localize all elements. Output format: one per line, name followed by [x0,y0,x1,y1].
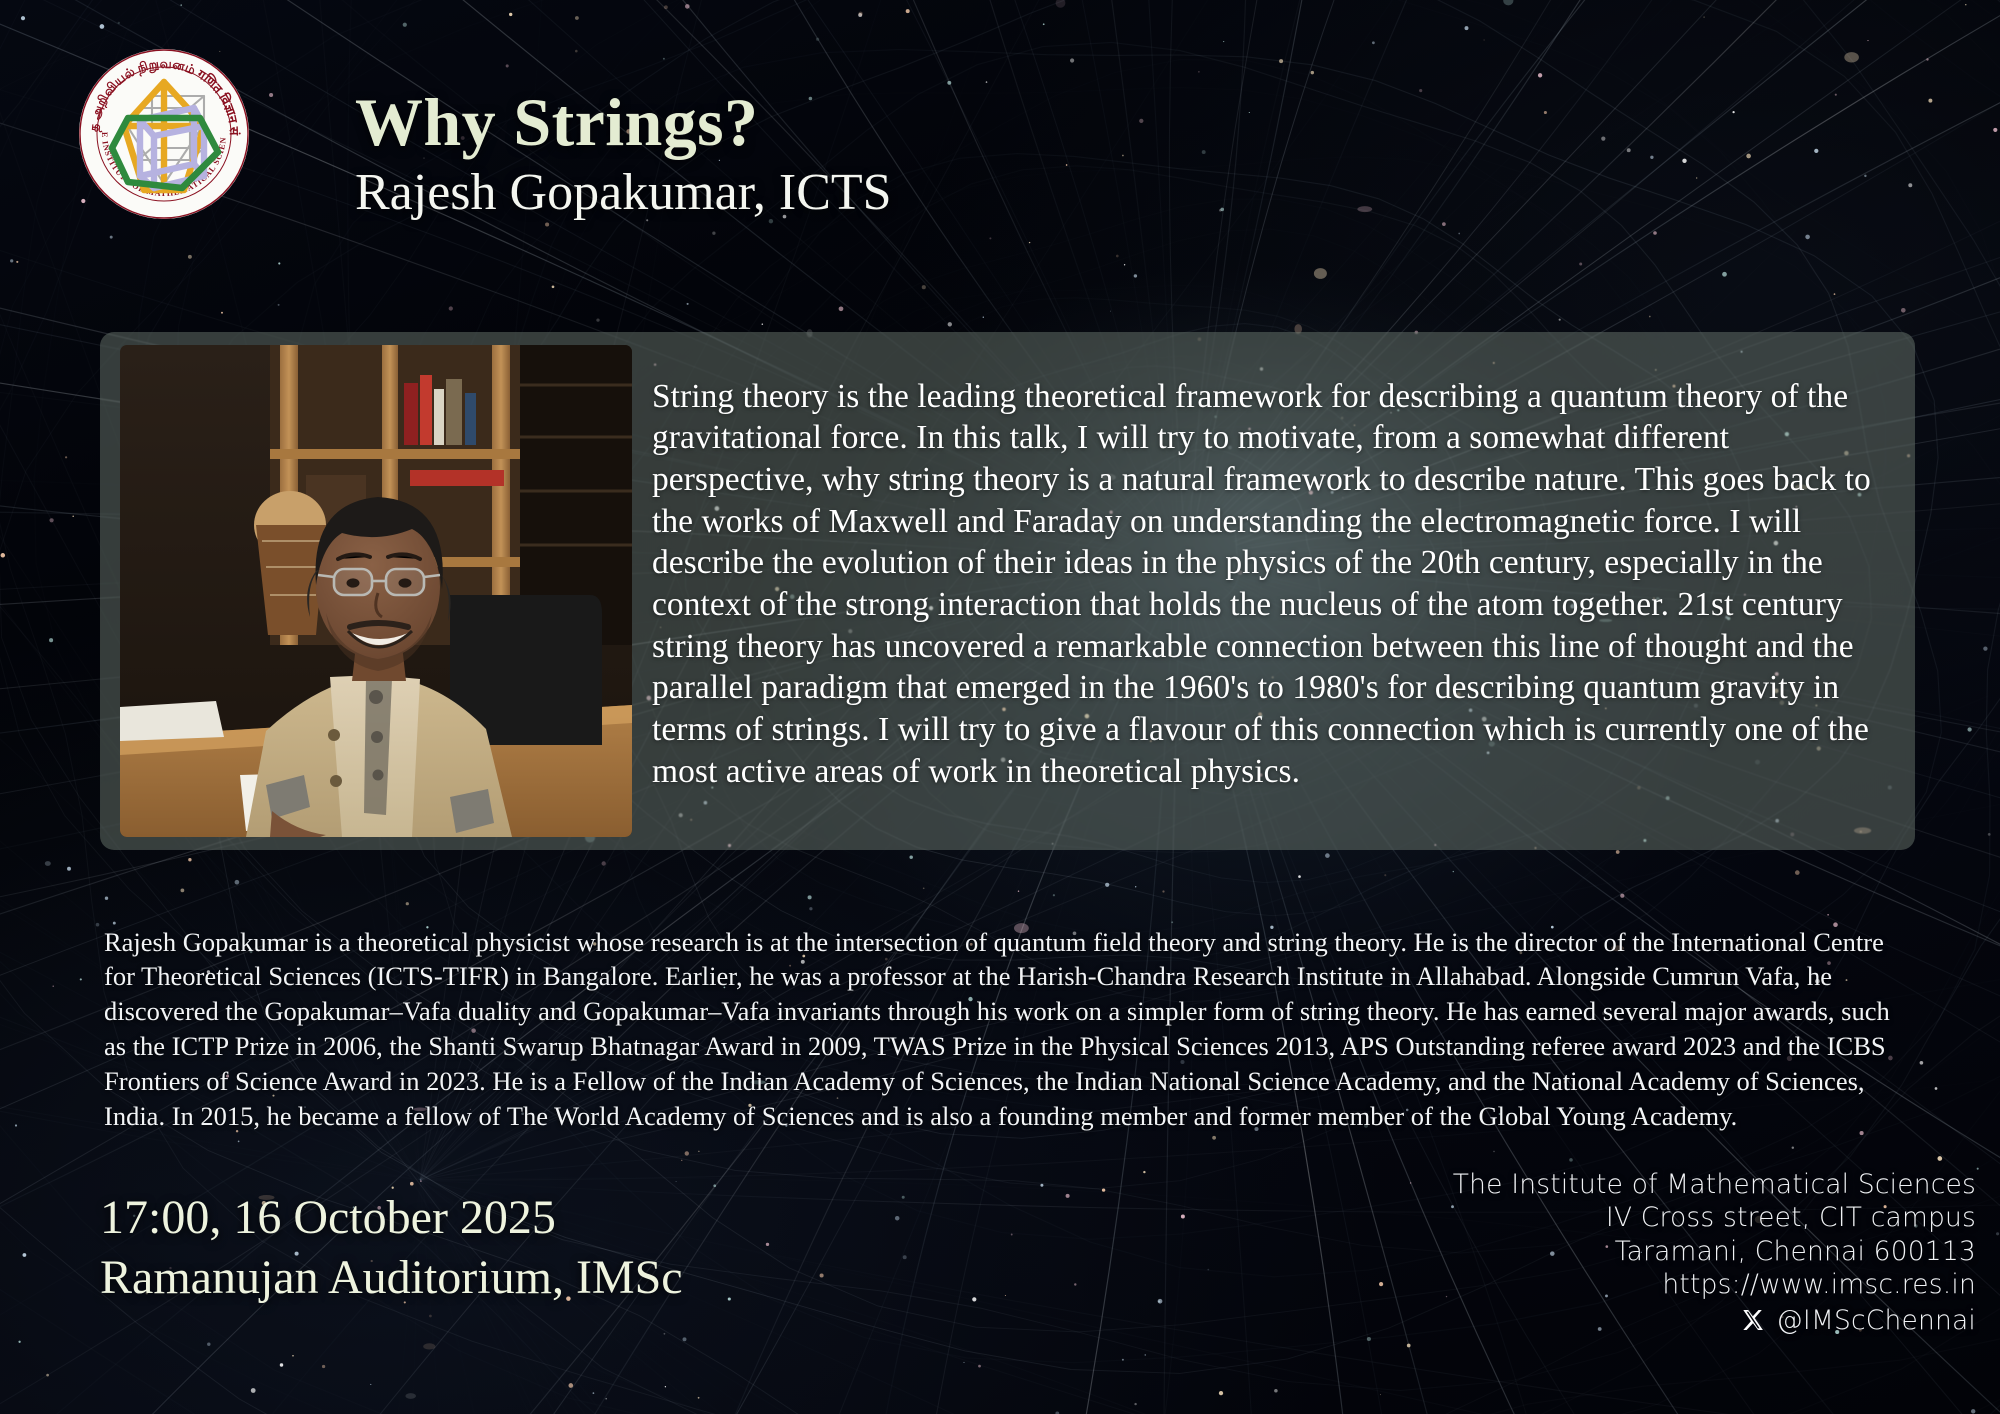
institute-address-line-2: Taramani, Chennai 600113 [1453,1235,1976,1268]
poster-header: கணித அறிவியல் நிறுவனம் गणित विज्ञान संस्… [0,0,2000,250]
event-venue: Ramanujan Auditorium, IMSc [100,1248,683,1308]
institute-contact-block: The Institute of Mathematical Sciences I… [1453,1168,1976,1337]
imsc-logo: கணித அறிவியல் நிறுவனம் गणित विज्ञान संस्… [78,48,250,220]
title-block: Why Strings? Rajesh Gopakumar, ICTS [355,88,892,223]
institute-address-line-1: IV Cross street, CIT campus [1453,1201,1976,1234]
institute-website[interactable]: https://www.imsc.res.in [1453,1268,1976,1301]
event-datetime: 17:00, 16 October 2025 [100,1188,683,1248]
speaker-bio: Rajesh Gopakumar is a theoretical physic… [104,925,1914,1135]
abstract-text: String theory is the leading theoretical… [652,376,1894,793]
social-handle[interactable]: @IMScChennai [1776,1304,1976,1337]
speaker-photo [120,345,632,837]
page-title: Why Strings? [355,88,892,157]
x-twitter-icon [1741,1308,1765,1332]
social-handle-row[interactable]: @IMScChennai [1453,1304,1976,1337]
abstract-panel: String theory is the leading theoretical… [100,332,1915,850]
institute-name: The Institute of Mathematical Sciences [1453,1168,1976,1201]
speaker-name: Rajesh Gopakumar, ICTS [355,163,892,223]
event-poster: கணித அறிவியல் நிறுவனம் गणित विज्ञान संस्… [0,0,2000,1414]
event-details: 17:00, 16 October 2025 Ramanujan Auditor… [100,1188,683,1309]
